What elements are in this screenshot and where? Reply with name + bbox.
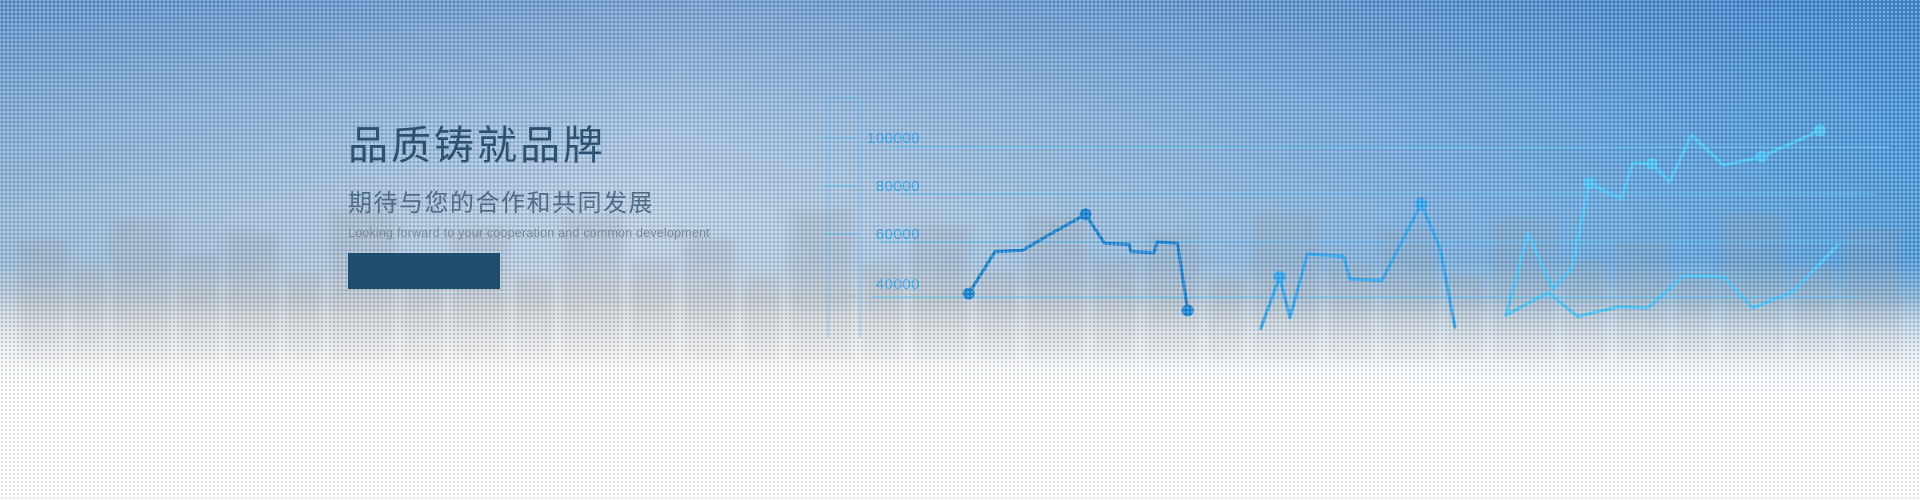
hero-copy: 品质铸就品牌 期待与您的合作和共同发展 Looking forward to y… (348, 124, 768, 240)
hero-banner: 100000 80000 60000 40000 (0, 0, 1920, 500)
cta-button[interactable] (348, 253, 500, 289)
page-title: 品质铸就品牌 (348, 124, 768, 168)
page-tagline: Looking forward to your cooperation and … (348, 226, 768, 240)
halftone-dot-overlay-light (0, 0, 1920, 500)
page-subtitle: 期待与您的合作和共同发展 (348, 190, 768, 219)
